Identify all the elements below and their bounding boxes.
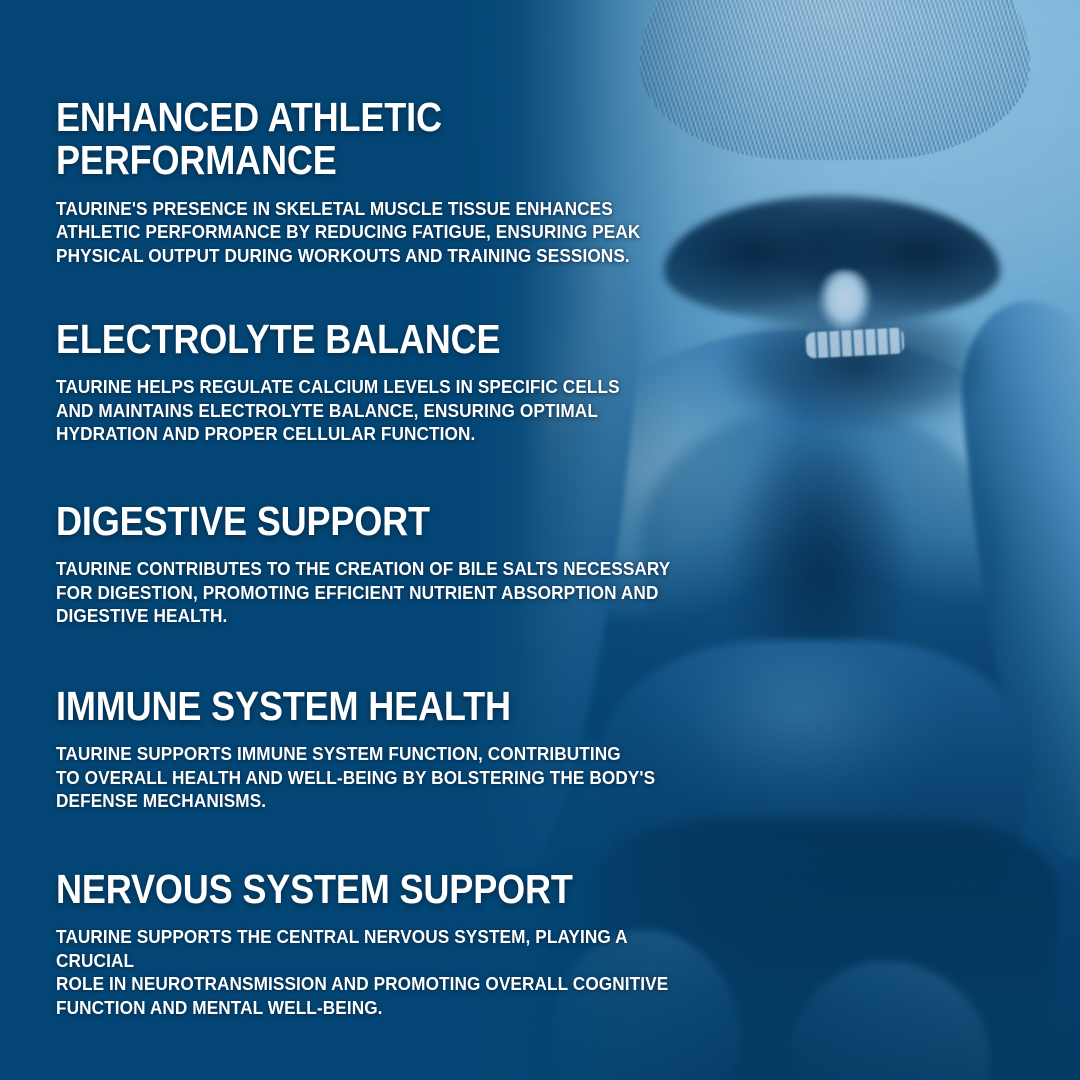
- infographic-poster: ENHANCED ATHLETIC PERFORMANCE TAURINE'S …: [0, 0, 1080, 1080]
- benefit-description-line: TAURINE CONTRIBUTES TO THE CREATION OF B…: [56, 557, 707, 581]
- benefit-description-line: DEFENSE MECHANISMS.: [56, 789, 707, 813]
- benefit-description-line: PHYSICAL OUTPUT DURING WORKOUTS AND TRAI…: [56, 244, 707, 268]
- benefit-description-line: TAURINE'S PRESENCE IN SKELETAL MUSCLE TI…: [56, 197, 707, 221]
- benefit-description-line: FOR DIGESTION, PROMOTING EFFICIENT NUTRI…: [56, 581, 707, 605]
- benefit-description: TAURINE'S PRESENCE IN SKELETAL MUSCLE TI…: [56, 197, 707, 268]
- benefit-description-line: TO OVERALL HEALTH AND WELL-BEING BY BOLS…: [56, 766, 707, 790]
- benefit-description-line: TAURINE HELPS REGULATE CALCIUM LEVELS IN…: [56, 375, 707, 399]
- athlete-photo-teeth: [805, 327, 904, 358]
- benefit-heading: IMMUNE SYSTEM HEALTH: [56, 685, 672, 728]
- benefit-heading: ENHANCED ATHLETIC PERFORMANCE: [56, 96, 672, 183]
- benefit-description-line: TAURINE SUPPORTS IMMUNE SYSTEM FUNCTION,…: [56, 742, 707, 766]
- benefit-heading: ELECTROLYTE BALANCE: [56, 318, 672, 361]
- benefit-description-line: AND MAINTAINS ELECTROLYTE BALANCE, ENSUR…: [56, 399, 707, 423]
- benefit-item-nervous-system-support: NERVOUS SYSTEM SUPPORT TAURINE SUPPORTS …: [56, 868, 756, 1019]
- benefit-description: TAURINE CONTRIBUTES TO THE CREATION OF B…: [56, 557, 707, 628]
- athlete-photo-nose: [818, 270, 872, 340]
- benefit-description-line: TAURINE SUPPORTS THE CENTRAL NERVOUS SYS…: [56, 925, 707, 972]
- benefit-heading: DIGESTIVE SUPPORT: [56, 500, 672, 543]
- benefit-description-line: ATHLETIC PERFORMANCE BY REDUCING FATIGUE…: [56, 220, 707, 244]
- benefit-heading: NERVOUS SYSTEM SUPPORT: [56, 868, 672, 911]
- benefit-item-immune-system-health: IMMUNE SYSTEM HEALTH TAURINE SUPPORTS IM…: [56, 685, 756, 813]
- benefit-description: TAURINE SUPPORTS THE CENTRAL NERVOUS SYS…: [56, 925, 707, 1019]
- benefits-list: ENHANCED ATHLETIC PERFORMANCE TAURINE'S …: [56, 0, 776, 1080]
- athlete-photo-right-thigh: [782, 949, 1002, 1080]
- benefit-description-line: HYDRATION AND PROPER CELLULAR FUNCTION.: [56, 422, 707, 446]
- benefit-description-line: FUNCTION AND MENTAL WELL-BEING.: [56, 996, 707, 1020]
- benefit-description: TAURINE HELPS REGULATE CALCIUM LEVELS IN…: [56, 375, 707, 446]
- benefit-description: TAURINE SUPPORTS IMMUNE SYSTEM FUNCTION,…: [56, 742, 707, 813]
- benefit-item-enhanced-athletic-performance: ENHANCED ATHLETIC PERFORMANCE TAURINE'S …: [56, 96, 756, 267]
- benefit-description-line: ROLE IN NEUROTRANSMISSION AND PROMOTING …: [56, 972, 707, 996]
- benefit-description-line: DIGESTIVE HEALTH.: [56, 604, 707, 628]
- athlete-photo-right-arm: [954, 295, 1080, 866]
- benefit-item-electrolyte-balance: ELECTROLYTE BALANCE TAURINE HELPS REGULA…: [56, 318, 756, 446]
- benefit-item-digestive-support: DIGESTIVE SUPPORT TAURINE CONTRIBUTES TO…: [56, 500, 756, 628]
